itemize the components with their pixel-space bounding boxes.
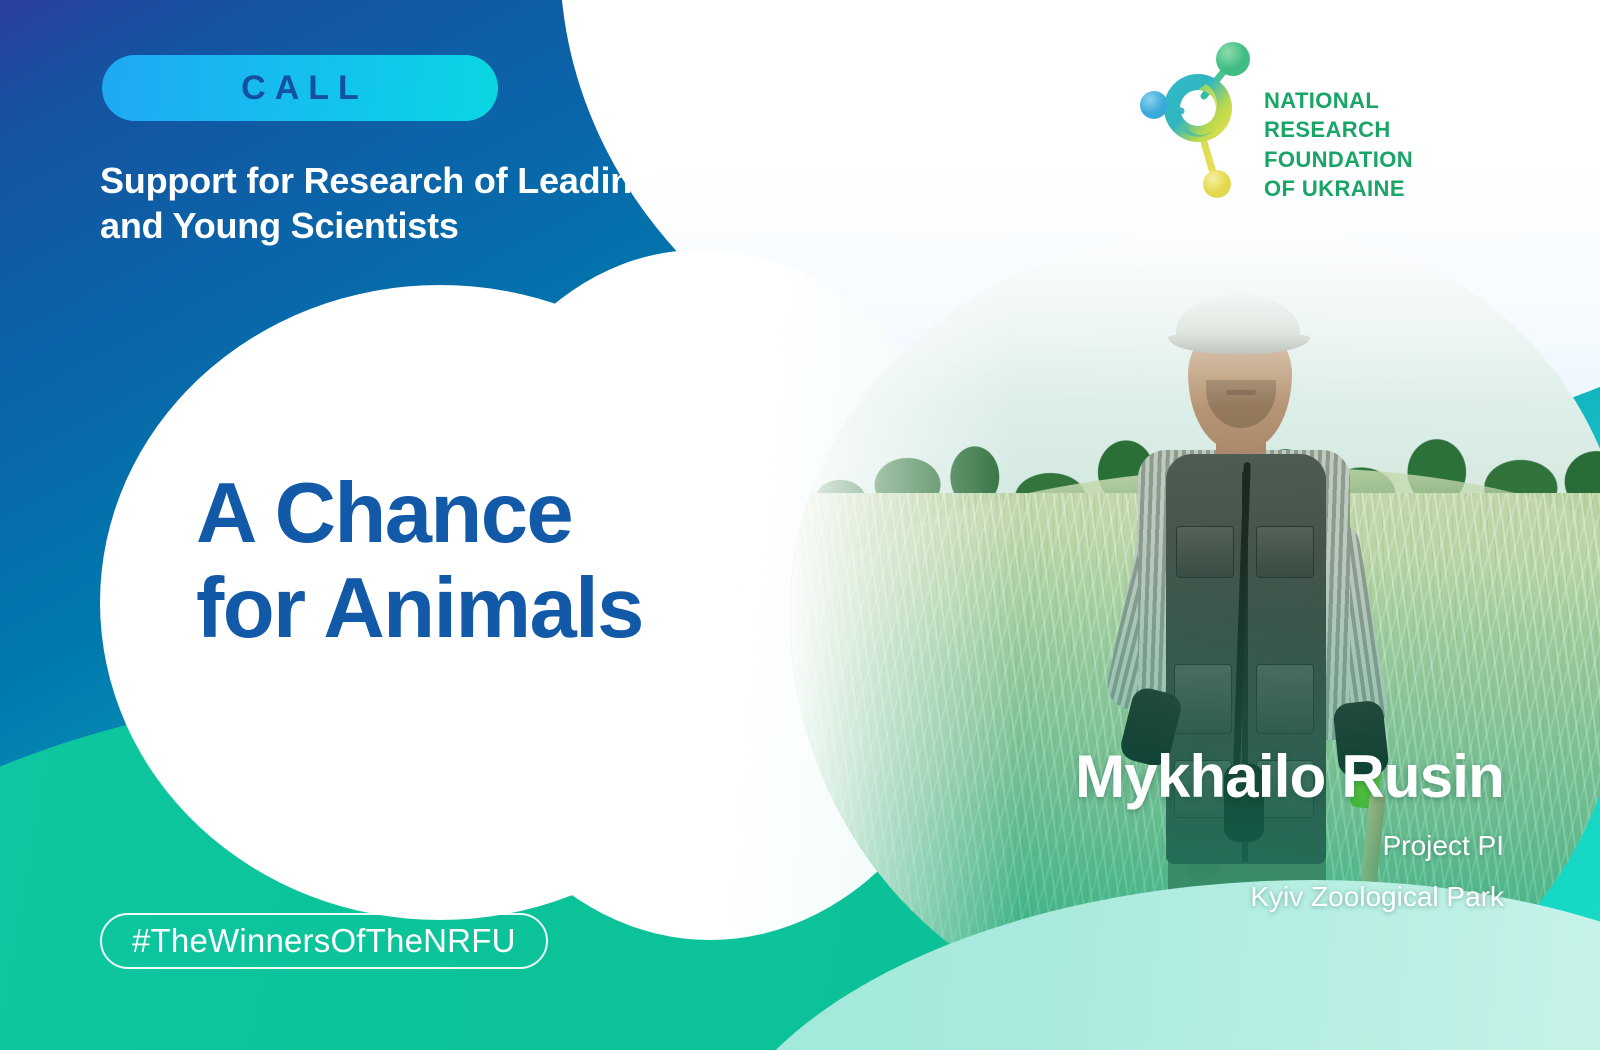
nrfu-logo: NATIONAL RESEARCH FOUNDATION OF UKRAINE [1136, 34, 1496, 214]
program-subtitle: Support for Research of Leading and Youn… [100, 158, 720, 248]
person-credit-block: Mykhailo Rusin Project PI Kyiv Zoologica… [1075, 745, 1504, 916]
call-badge: CALL [102, 55, 498, 121]
nrfu-logo-line3: OF UKRAINE [1264, 174, 1496, 203]
person-role: Project PI [1075, 827, 1504, 865]
hashtag-badge: #TheWinnersOfTheNRFU [100, 913, 548, 969]
project-title-line2: for Animals [196, 561, 736, 656]
hashtag-label: #TheWinnersOfTheNRFU [132, 922, 516, 960]
logo-sphere-yellow [1203, 170, 1231, 198]
program-subtitle-line1: Support for Research of Leading [100, 158, 720, 203]
project-title: A Chance for Animals [196, 466, 736, 656]
person-name: Mykhailo Rusin [1075, 745, 1504, 809]
nrfu-logo-text: NATIONAL RESEARCH FOUNDATION OF UKRAINE [1264, 86, 1496, 203]
promo-poster: CALL Support for Research of Leading and… [0, 0, 1600, 1050]
logo-sphere-blue [1140, 91, 1168, 119]
person-organization: Kyiv Zoological Park [1075, 878, 1504, 916]
photo-top-fade [790, 232, 1600, 406]
logo-sphere-green [1216, 42, 1250, 76]
nrfu-logo-line2: FOUNDATION [1264, 145, 1496, 174]
program-subtitle-line2: and Young Scientists [100, 203, 720, 248]
call-badge-label: CALL [232, 69, 368, 108]
project-title-line1: A Chance [196, 466, 572, 561]
nrfu-molecule-spiral-icon [1136, 34, 1256, 206]
nrfu-logo-line1: NATIONAL RESEARCH [1264, 86, 1496, 145]
